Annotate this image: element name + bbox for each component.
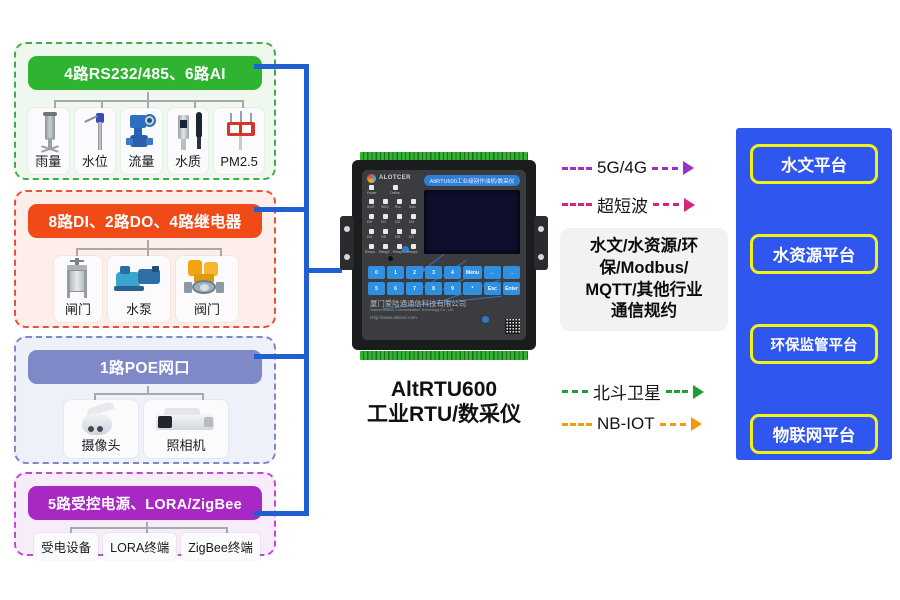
dash-line — [562, 203, 592, 206]
arrow-icon — [683, 161, 694, 175]
pill-powered-device[interactable]: 受电设备 — [34, 533, 98, 560]
pill-zigbee-terminal[interactable]: ZigBee终端 — [181, 533, 260, 560]
comm-link-beidou: 北斗卫星 — [562, 379, 704, 404]
led-label: DI3 — [409, 220, 414, 224]
reset-button[interactable] — [388, 256, 393, 261]
dash-line — [666, 390, 688, 393]
key-9[interactable]: 9 — [444, 282, 461, 295]
protocol-line: 保/Modbus/ — [566, 258, 722, 280]
platform-iot[interactable]: 物联网平台 — [750, 414, 878, 454]
bus-vertical — [304, 64, 309, 516]
device-title-model: AltRTU600 — [336, 378, 552, 403]
key-2[interactable]: 2 — [406, 266, 423, 279]
panel-header-rs232-ai[interactable]: 4路RS232/485、6路AI — [28, 56, 262, 90]
led-indicator — [411, 244, 416, 249]
device-card-rain-gauge[interactable]: 雨量 — [28, 108, 69, 174]
protocol-list: 水文/水资源/环 保/Modbus/ MQTT/其他行业 通信规约 — [560, 228, 728, 331]
device-card-label: 雨量 — [35, 155, 61, 171]
key-enter[interactable]: Enter — [503, 282, 520, 295]
lcd-screen — [424, 190, 520, 254]
led-label: Relay1 — [365, 250, 376, 254]
platform-water-resource[interactable]: 水资源平台 — [750, 234, 878, 274]
bullet-camera-icon — [144, 400, 228, 439]
led-indicator — [369, 244, 374, 249]
protocol-line: 水文/水资源/环 — [566, 236, 722, 258]
device-card-pm25[interactable]: PM2.5 — [214, 108, 264, 174]
device-card-dome-camera[interactable]: 摄像头 — [64, 400, 138, 458]
panel-poe: 1路POE网口 摄像头 — [14, 336, 276, 464]
platform-environment[interactable]: 环保监管平台 — [750, 324, 878, 364]
arrow-icon — [684, 198, 695, 212]
device-card-water-level[interactable]: 水位 — [75, 108, 116, 174]
bus-branch-di-do — [254, 207, 309, 212]
dash-line — [562, 390, 588, 393]
led-label: Run — [395, 205, 401, 209]
led-indicator — [369, 199, 374, 204]
key-star[interactable]: * — [463, 282, 482, 295]
led-indicator — [369, 229, 374, 234]
key-right-arrow[interactable]: → — [503, 266, 520, 279]
qr-code-icon — [505, 319, 520, 334]
brand-logo-icon — [367, 174, 376, 183]
panel-header-poe[interactable]: 1路POE网口 — [28, 350, 262, 384]
key-5[interactable]: 5 — [368, 282, 385, 295]
led-indicator — [411, 214, 416, 219]
key-menu[interactable]: Menu — [463, 266, 482, 279]
device-card-bullet-camera[interactable]: 照相机 — [144, 400, 228, 458]
device-card-label: 摄像头 — [81, 439, 120, 455]
led-indicator — [397, 244, 402, 249]
led-indicator — [411, 229, 416, 234]
company-name-en: Xiamen Alotcer Communication Technology … — [370, 308, 453, 312]
device-front-panel: ALOTCER AltRTU600工业级别作浊机/数采仪 Power Onlin… — [362, 170, 526, 340]
panel-di-do-relay: 8路DI、2路DO、4路继电器 闸门 — [14, 190, 276, 328]
device-card-label: 流量 — [128, 155, 154, 171]
protocol-line: MQTT/其他行业 — [566, 280, 722, 302]
device-card-flow-meter[interactable]: 流量 — [121, 108, 162, 174]
arrow-icon — [691, 417, 702, 431]
led-indicator — [411, 199, 416, 204]
led-label: DI0 — [367, 220, 372, 224]
led-label: Relay4 — [407, 250, 418, 254]
led-indicator — [369, 214, 374, 219]
company-url: Http://www.alotcer.com — [370, 315, 417, 320]
led-label: StbQ — [381, 205, 389, 209]
comm-link-uhf: 超短波 — [562, 192, 695, 217]
comm-label: 北斗卫星 — [593, 379, 661, 404]
protocol-line: 通信规约 — [566, 301, 722, 323]
pill-lora-terminal[interactable]: LORA终端 — [103, 533, 176, 560]
platform-hydrology[interactable]: 水文平台 — [750, 144, 878, 184]
key-7[interactable]: 7 — [406, 282, 423, 295]
comm-label: 5G/4G — [597, 158, 647, 178]
dash-line — [562, 167, 592, 170]
led-power — [369, 185, 374, 190]
dash-line — [652, 167, 678, 170]
device-card-label: 闸门 — [65, 303, 91, 319]
terminal-block-bottom — [360, 351, 528, 360]
comm-link-nbiot: NB-IOT — [562, 414, 702, 434]
panel-header-di-do-relay[interactable]: 8路DI、2路DO、4路继电器 — [28, 204, 262, 238]
key-esc[interactable]: Esc — [484, 282, 501, 295]
mounting-ear-right — [534, 216, 548, 270]
key-left-arrow[interactable]: ← — [484, 266, 501, 279]
key-6[interactable]: 6 — [387, 282, 404, 295]
led-label: DI5 — [381, 235, 386, 239]
led-label: Relay3 — [393, 250, 404, 254]
led-online-label: Online — [390, 191, 400, 195]
led-label: DI6 — [395, 235, 400, 239]
led-indicator — [397, 199, 402, 204]
key-0[interactable]: 0 — [368, 266, 385, 279]
device-card-sluice-gate[interactable]: 闸门 — [54, 256, 102, 322]
led-indicator — [383, 229, 388, 234]
led-indicator — [397, 229, 402, 234]
panel-rs232-ai: 4路RS232/485、6路AI 雨量 — [14, 42, 276, 180]
key-3[interactable]: 3 — [425, 266, 442, 279]
led-label: DI7 — [409, 235, 414, 239]
valve-icon — [176, 256, 238, 303]
led-indicator — [383, 214, 388, 219]
key-1[interactable]: 1 — [387, 266, 404, 279]
device-nameplate: AltRTU600工业级别作浊机/数采仪 — [424, 175, 520, 186]
led-label: Rain — [409, 205, 416, 209]
device-card-label: 水质 — [175, 155, 201, 171]
panel-header-power-lora[interactable]: 5路受控电源、LORA/ZigBee — [28, 486, 262, 520]
device-card-label: 照相机 — [166, 439, 205, 455]
bus-branch-power-lora — [254, 511, 309, 516]
led-label: DI4 — [367, 235, 372, 239]
water-level-sensor-icon — [75, 108, 116, 155]
comm-link-5g4g: 5G/4G — [562, 158, 694, 178]
led-indicator — [397, 214, 402, 219]
mounting-ear-left — [340, 216, 354, 270]
device-card-water-quality[interactable]: 水质 — [168, 108, 209, 174]
key-8[interactable]: 8 — [425, 282, 442, 295]
led-power-label: Power — [367, 191, 377, 195]
arrow-icon — [693, 385, 704, 399]
panel-power-lora: 5路受控电源、LORA/ZigBee 受电设备 LORA终端 ZigBee终端 — [14, 472, 276, 556]
device-title-type: 工业RTU/数采仪 — [336, 403, 552, 428]
device-card-label: PM2.5 — [220, 155, 258, 171]
device-card-label: 阀门 — [194, 303, 220, 319]
rain-gauge-icon — [28, 108, 69, 155]
led-label: DI1 — [381, 220, 386, 224]
bus-branch-rs232 — [254, 64, 309, 69]
dome-camera-icon — [64, 400, 138, 439]
led-online — [393, 185, 398, 190]
bus-branch-poe — [254, 354, 309, 359]
comm-label: 超短波 — [597, 192, 648, 217]
led-indicator — [383, 199, 388, 204]
brand-name: ALOTCER — [379, 175, 411, 181]
led-indicator — [383, 244, 388, 249]
led-label: SmR — [367, 205, 375, 209]
dash-line — [653, 203, 679, 206]
sluice-gate-icon — [54, 256, 102, 303]
flow-meter-icon — [121, 108, 162, 155]
device-card-valve[interactable]: 阀门 — [176, 256, 238, 322]
pm25-sensor-icon — [214, 108, 264, 155]
device-card-label: 水泵 — [126, 303, 152, 319]
dash-line — [562, 423, 592, 426]
key-4[interactable]: 4 — [444, 266, 461, 279]
device-card-label: 水位 — [82, 155, 108, 171]
device-card-water-pump[interactable]: 水泵 — [108, 256, 170, 322]
led-label: Relay2 — [379, 250, 390, 254]
water-pump-icon — [108, 256, 170, 303]
led-label: DI2 — [395, 220, 400, 224]
water-quality-sensor-icon — [168, 108, 209, 155]
diagram-canvas: 4路RS232/485、6路AI 雨量 — [0, 0, 900, 600]
platform-group: 水文平台 水资源平台 环保监管平台 物联网平台 — [736, 128, 892, 460]
device-title: AltRTU600 工业RTU/数采仪 — [336, 378, 552, 428]
rtu-device[interactable]: ALOTCER AltRTU600工业级别作浊机/数采仪 Power Onlin… — [336, 152, 552, 360]
dash-line — [660, 423, 686, 426]
comm-label: NB-IOT — [597, 414, 655, 434]
